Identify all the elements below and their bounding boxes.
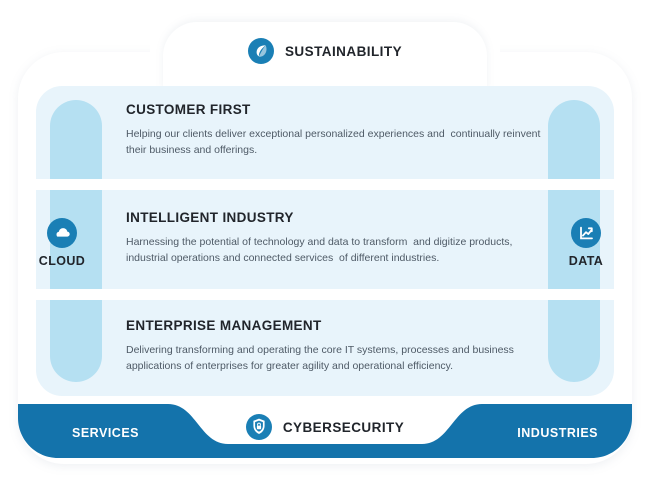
data-group: DATA xyxy=(546,218,626,268)
row-body: Helping our clients deliver exceptional … xyxy=(126,126,546,158)
row-title: CUSTOMER FIRST xyxy=(126,102,546,117)
diagram-root: SUSTAINABILITY CUSTOMER FIRST Helping ou… xyxy=(0,0,650,485)
shield-lock-icon xyxy=(246,414,272,440)
row-body: Delivering transforming and operating th… xyxy=(126,342,546,374)
leaf-icon xyxy=(248,38,274,64)
row-customer-first: CUSTOMER FIRST Helping our clients deliv… xyxy=(126,102,546,158)
cybersecurity-label: CYBERSECURITY xyxy=(283,420,404,435)
cybersecurity-group: CYBERSECURITY xyxy=(0,404,650,450)
sustainability-header: SUSTAINABILITY xyxy=(0,34,650,68)
data-label: DATA xyxy=(546,254,626,268)
sustainability-label: SUSTAINABILITY xyxy=(285,44,402,59)
cloud-icon xyxy=(22,218,102,248)
cloud-label: CLOUD xyxy=(22,254,102,268)
cloud-group: CLOUD xyxy=(22,218,102,268)
row-body: Harnessing the potential of technology a… xyxy=(126,234,546,266)
content-panel: CUSTOMER FIRST Helping our clients deliv… xyxy=(36,86,614,396)
row-enterprise-management: ENTERPRISE MANAGEMENT Delivering transfo… xyxy=(126,318,546,374)
row-intelligent-industry: INTELLIGENT INDUSTRY Harnessing the pote… xyxy=(126,210,546,266)
row-title: INTELLIGENT INDUSTRY xyxy=(126,210,546,225)
row-title: ENTERPRISE MANAGEMENT xyxy=(126,318,546,333)
chart-growth-icon xyxy=(546,218,626,248)
